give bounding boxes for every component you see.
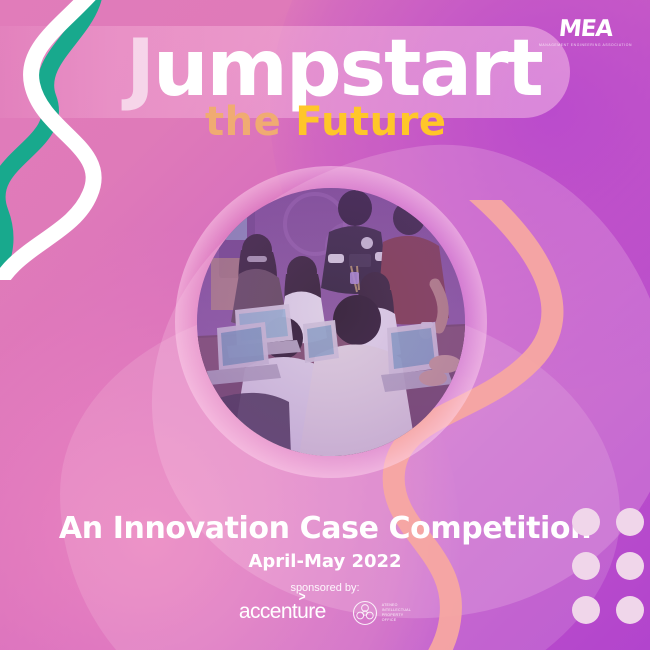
poster-canvas: MEA MANAGEMENT ENGINEERING ASSOCIATION J… (0, 0, 650, 650)
accenture-greater-than-icon: > (299, 589, 305, 604)
event-photo (197, 188, 465, 456)
subtitle-highlight-word: Future (295, 99, 446, 145)
ateneo-ipo-wordmark: ATENEO INTELLECTUAL PROPERTY OFFICE (382, 603, 411, 624)
mea-logo-subtext: MANAGEMENT ENGINEERING ASSOCIATION (539, 43, 632, 47)
event-headline: An Innovation Case Competition (0, 511, 650, 546)
poster-title: Jumpstart (126, 30, 542, 108)
sponsor-logo-ateneo-ipo: ATENEO INTELLECTUAL PROPERTY OFFICE (352, 600, 411, 626)
sponsor-logos: > accenture ATENEO INTELLECTUAL PROPERTY… (0, 600, 650, 626)
subtitle-accent-word: the (205, 99, 281, 145)
event-dates: April-May 2022 (0, 551, 650, 572)
sponsored-by-label: sponsored by: (0, 582, 650, 594)
ipo-line-4: OFFICE (382, 618, 411, 623)
poster-subtitle: theFuture (205, 102, 447, 142)
accenture-wordmark: accenture (239, 600, 326, 623)
mea-logo: MEA MANAGEMENT ENGINEERING ASSOCIATION (539, 18, 632, 47)
mea-logo-mark: MEA (538, 18, 633, 41)
dot-grid-decoration (572, 508, 650, 632)
title-lead-letter: J (126, 24, 153, 114)
ateneo-ipo-seal-icon (352, 600, 378, 626)
sponsor-logo-accenture: > accenture (239, 600, 326, 623)
